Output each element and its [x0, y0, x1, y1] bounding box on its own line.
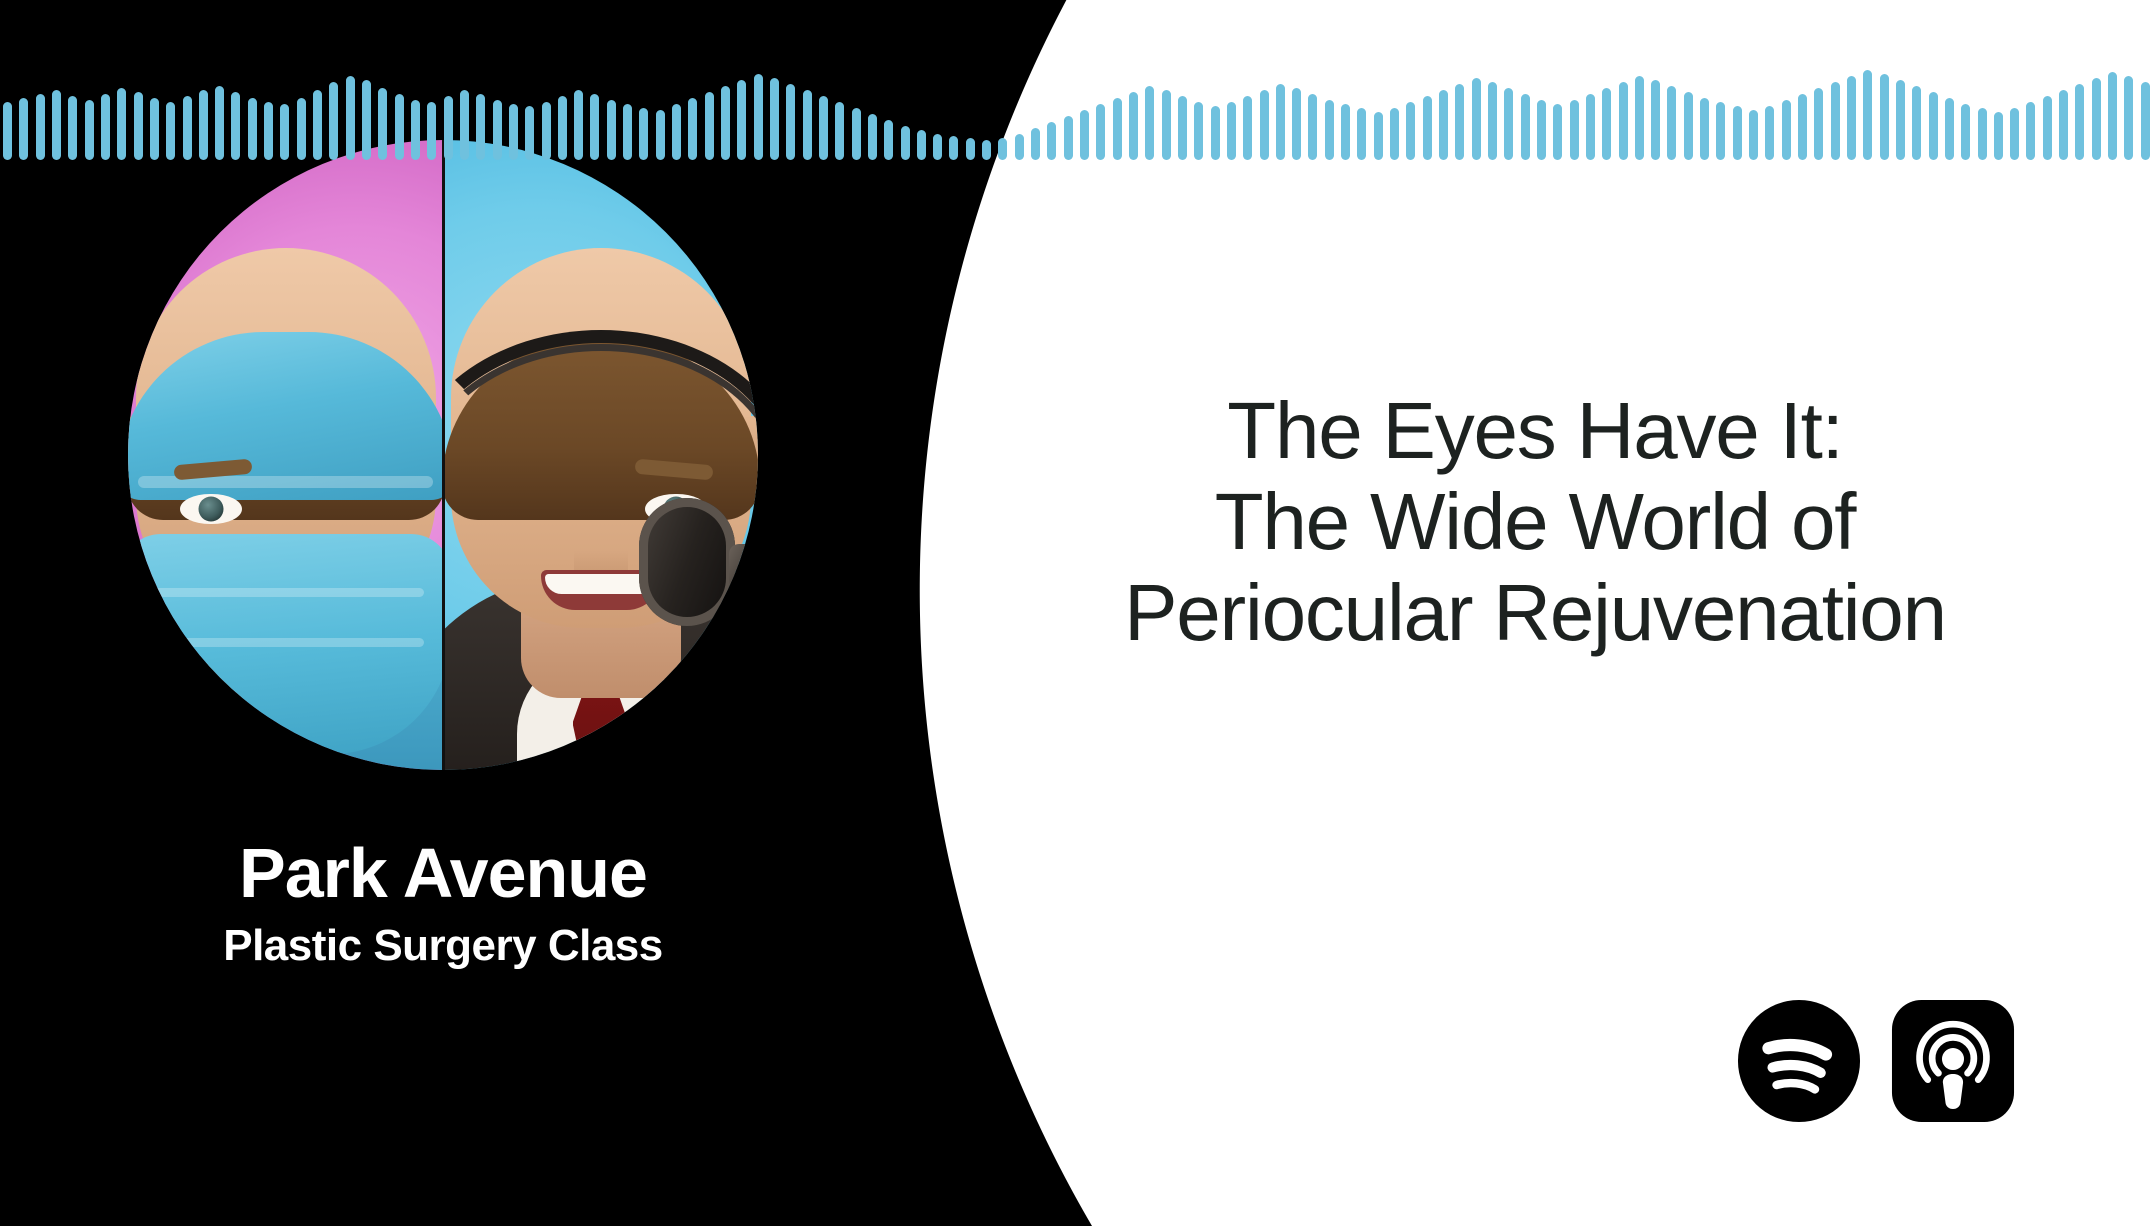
waveform-bar: [68, 96, 77, 160]
waveform-bar: [1308, 94, 1317, 160]
waveform-bar: [1113, 98, 1122, 160]
waveform-bar: [1341, 104, 1350, 160]
waveform-bar: [1863, 70, 1872, 160]
waveform-bar: [1096, 104, 1105, 160]
waveform-bar: [852, 108, 861, 160]
waveform-bar: [313, 90, 322, 160]
host-portrait: [128, 140, 758, 770]
waveform-bar: [1390, 108, 1399, 160]
waveform-bar: [2075, 84, 2084, 160]
waveform-bar: [770, 78, 779, 160]
waveform-bar: [2108, 72, 2117, 160]
waveform-bar: [460, 90, 469, 160]
waveform-bar: [297, 98, 306, 160]
brand-subtitle: Plastic Surgery Class: [0, 924, 886, 968]
waveform-bar: [835, 102, 844, 160]
waveform-bar: [280, 104, 289, 160]
waveform-bar: [1619, 82, 1628, 160]
waveform-bar: [639, 108, 648, 160]
headphone-earcup: [639, 498, 735, 626]
waveform-bar: [2124, 76, 2133, 160]
waveform-bar: [2141, 82, 2150, 160]
waveform-bar: [509, 104, 518, 160]
waveform-bar: [1227, 102, 1236, 160]
waveform-bar: [1945, 98, 1954, 160]
waveform-bar: [590, 94, 599, 160]
waveform-bar: [1537, 100, 1546, 160]
waveform-bar: [623, 104, 632, 160]
waveform-bar: [346, 76, 355, 160]
brand-name: Park Avenue: [0, 838, 886, 908]
waveform-bar: [427, 102, 436, 160]
waveform-bar: [819, 96, 828, 160]
waveform-bar: [1488, 82, 1497, 160]
waveform-bar: [1978, 108, 1987, 160]
waveform-bar: [1211, 106, 1220, 160]
episode-title-line-1: The Eyes Have It:: [1010, 385, 2060, 476]
waveform-bar: [917, 130, 926, 160]
waveform-bar: [1178, 96, 1187, 160]
waveform-bar: [150, 98, 159, 160]
waveform-bar: [1406, 102, 1415, 160]
waveform-bar: [737, 80, 746, 160]
waveform-bar: [1015, 134, 1024, 160]
waveform-bar: [19, 98, 28, 160]
waveform-bar: [1896, 80, 1905, 160]
audio-waveform: [0, 0, 2154, 160]
waveform-bar: [656, 110, 665, 160]
brand-lockup: Park Avenue Plastic Surgery Class: [0, 838, 886, 968]
apple-podcasts-icon[interactable]: [1890, 998, 2016, 1124]
waveform-bar: [264, 102, 273, 160]
waveform-bar: [166, 102, 175, 160]
waveform-bar: [1782, 100, 1791, 160]
waveform-bar: [85, 100, 94, 160]
waveform-bar: [1635, 76, 1644, 160]
head: [451, 248, 751, 628]
waveform-bar: [476, 94, 485, 160]
portrait-split-divider: [442, 140, 445, 770]
portrait-podcaster-half: [443, 140, 758, 770]
waveform-bar: [1814, 88, 1823, 160]
waveform-bar: [1961, 104, 1970, 160]
waveform-bar: [1733, 106, 1742, 160]
waveform-bar: [868, 114, 877, 160]
surgical-mask: [128, 534, 443, 754]
waveform-bar: [754, 74, 763, 160]
waveform-bar: [1602, 88, 1611, 160]
waveform-bar: [1929, 92, 1938, 160]
waveform-bar: [1047, 122, 1056, 160]
waveform-bar: [444, 96, 453, 160]
waveform-bar: [901, 126, 910, 160]
waveform-bar: [411, 100, 420, 160]
waveform-bar: [1162, 90, 1171, 160]
waveform-bar: [493, 100, 502, 160]
waveform-bar: [786, 84, 795, 160]
waveform-bar: [1847, 76, 1856, 160]
portrait-surgeon-half: [128, 140, 443, 770]
waveform-bar: [933, 134, 942, 160]
waveform-bar: [329, 82, 338, 160]
waveform-bar: [1765, 106, 1774, 160]
waveform-bar: [949, 136, 958, 160]
waveform-bar: [1749, 110, 1758, 160]
iris-left: [198, 497, 223, 522]
waveform-bar: [558, 96, 567, 160]
waveform-bar: [1194, 102, 1203, 160]
waveform-bar: [117, 88, 126, 160]
waveform-bar: [1374, 112, 1383, 160]
waveform-bar: [362, 80, 371, 160]
headphone-adjuster: [729, 544, 759, 590]
waveform-bar: [721, 86, 730, 160]
waveform-bar: [2043, 96, 2052, 160]
waveform-bar: [998, 138, 1007, 160]
waveform-bar: [1651, 80, 1660, 160]
waveform-bar: [378, 88, 387, 160]
waveform-bar: [134, 92, 143, 160]
waveform-bar: [1667, 86, 1676, 160]
waveform-bar: [1553, 104, 1562, 160]
waveform-bar: [1129, 92, 1138, 160]
waveform-bar: [395, 94, 404, 160]
waveform-bar: [1031, 128, 1040, 160]
waveform-bar: [982, 140, 991, 160]
waveform-bar: [36, 94, 45, 160]
waveform-bar: [1912, 86, 1921, 160]
waveform-bar: [1521, 94, 1530, 160]
waveform-bar: [525, 106, 534, 160]
waveform-bar: [1325, 100, 1334, 160]
waveform-bar: [52, 90, 61, 160]
waveform-bar: [2010, 108, 2019, 160]
waveform-bar: [2026, 102, 2035, 160]
waveform-bar: [672, 104, 681, 160]
eye-left: [180, 494, 242, 524]
waveform-bar: [3, 102, 12, 160]
waveform-bar: [1716, 102, 1725, 160]
spotify-icon[interactable]: [1736, 998, 1862, 1124]
head: [136, 248, 436, 628]
episode-title-line-3: Periocular Rejuvenation: [1010, 567, 2060, 658]
waveform-bar: [884, 120, 893, 160]
waveform-bar: [1439, 90, 1448, 160]
waveform-bar: [1455, 84, 1464, 160]
waveform-bar: [1243, 96, 1252, 160]
waveform-bar: [688, 98, 697, 160]
waveform-bar: [705, 92, 714, 160]
waveform-bar: [607, 100, 616, 160]
waveform-bar: [1276, 84, 1285, 160]
waveform-bar: [2059, 90, 2068, 160]
waveform-bar: [1994, 112, 2003, 160]
waveform-bar: [231, 92, 240, 160]
waveform-bar: [1080, 110, 1089, 160]
waveform-bar: [1684, 92, 1693, 160]
platform-links: [1736, 998, 2016, 1124]
waveform-bar: [1798, 94, 1807, 160]
waveform-bar: [574, 90, 583, 160]
waveform-bar: [1423, 96, 1432, 160]
waveform-bar: [248, 98, 257, 160]
waveform-bar: [2092, 78, 2101, 160]
waveform-bar: [803, 90, 812, 160]
waveform-bar: [1831, 82, 1840, 160]
waveform-bar: [1260, 90, 1269, 160]
episode-title: The Eyes Have It: The Wide World of Peri…: [1010, 385, 2060, 659]
waveform-bar: [1504, 88, 1513, 160]
waveform-bar: [966, 138, 975, 160]
waveform-bar: [1357, 108, 1366, 160]
waveform-bar: [1064, 116, 1073, 160]
waveform-bar: [183, 96, 192, 160]
waveform-bar: [1880, 74, 1889, 160]
waveform-bar: [199, 90, 208, 160]
podcast-episode-banner: Park Avenue Plastic Surgery Class The Ey…: [0, 0, 2154, 1226]
waveform-bar: [215, 86, 224, 160]
waveform-bar: [1145, 86, 1154, 160]
waveform-bar: [1570, 100, 1579, 160]
waveform-bar: [1292, 88, 1301, 160]
waveform-bar: [1472, 78, 1481, 160]
waveform-bar: [1586, 94, 1595, 160]
waveform-bar: [101, 94, 110, 160]
waveform-bar: [1700, 98, 1709, 160]
episode-title-line-2: The Wide World of: [1010, 476, 2060, 567]
waveform-bar: [542, 102, 551, 160]
